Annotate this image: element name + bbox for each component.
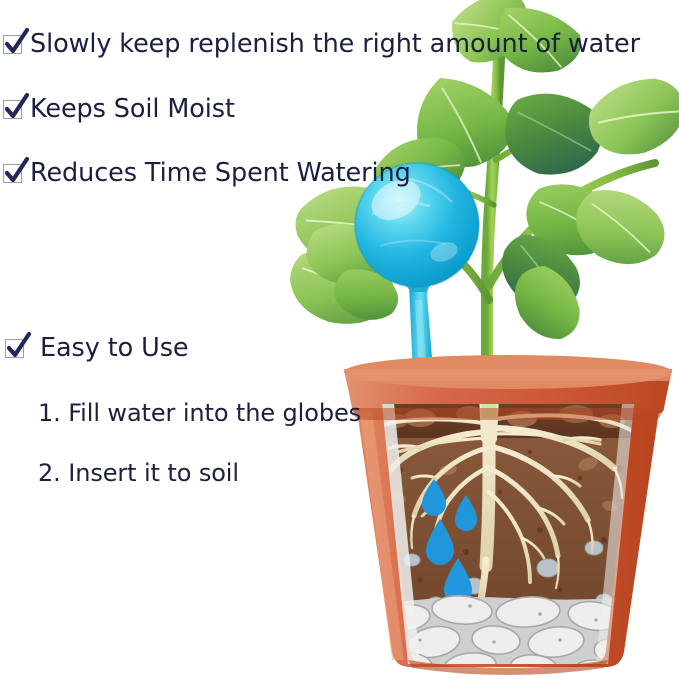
instruction-step: 1. Fill water into the globes [38,400,361,426]
benefit-label: Reduces Time Spent Watering [30,160,411,186]
instruction-step: 2. Insert it to soil [38,460,239,486]
checkbox-checked-icon[interactable] [3,35,24,56]
checkbox-checked-icon[interactable] [3,164,24,185]
benefit-label: Keeps Soil Moist [30,96,235,122]
benefit-label: Slowly keep replenish the right amount o… [30,31,640,57]
benefit-item: Keeps Soil Moist [3,96,235,122]
checkbox-checked-icon[interactable] [3,100,24,121]
product-infographic: Slowly keep replenish the right amount o… [0,0,679,679]
benefit-item: Easy to Use [5,335,188,361]
benefit-item: Reduces Time Spent Watering [3,160,411,186]
benefit-item: Slowly keep replenish the right amount o… [3,31,640,57]
terracotta-pot [344,355,672,679]
checkbox-checked-icon[interactable] [5,339,26,360]
benefit-label: Easy to Use [40,335,188,361]
